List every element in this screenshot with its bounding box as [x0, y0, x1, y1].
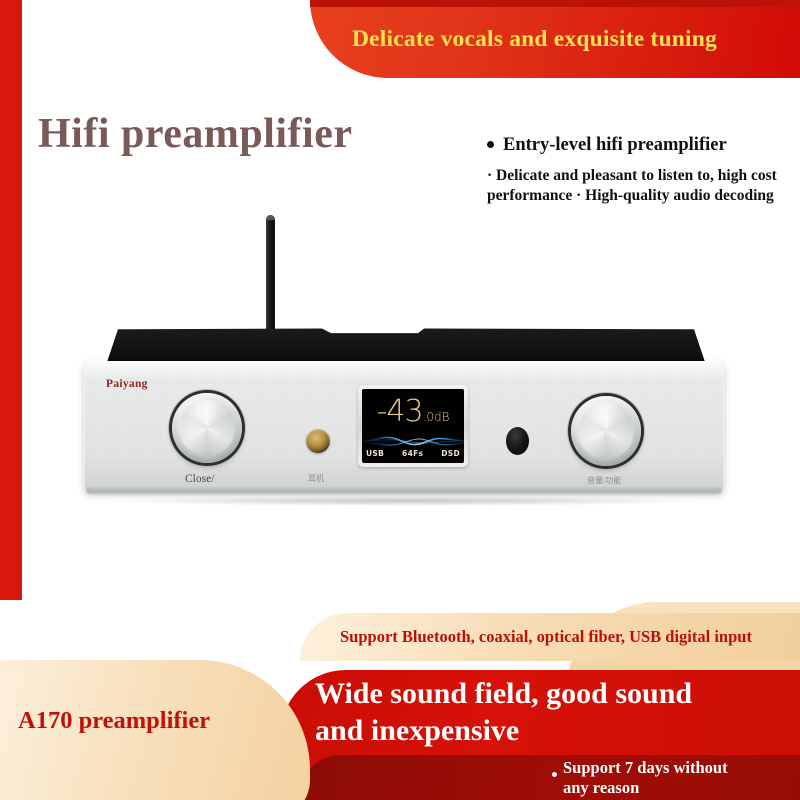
bottom-banner-line-2: and inexpensive: [315, 713, 785, 750]
top-banner-headline: Delicate vocals and exquisite tuning: [352, 26, 792, 53]
bottom-banner-headline: Wide sound field, good sound and inexpen…: [315, 676, 785, 749]
left-knob-input-selector[interactable]: [172, 393, 242, 463]
amplifier-drop-shadow: [114, 496, 698, 506]
warranty-line-2: any reason: [563, 778, 639, 797]
antenna-icon: [266, 215, 275, 333]
warranty-line-1: Support 7 days without: [563, 758, 728, 777]
promo-image-canvas: Delicate vocals and exquisite tuning Hif…: [0, 0, 800, 800]
display-bezel: -43.0dB: [358, 385, 468, 467]
warranty-text-block: Support 7 days without any reason: [563, 758, 728, 798]
feature-bullet-block: Entry-level hifi preamplifier · Delicate…: [487, 135, 787, 206]
amplifier-top-cover: [106, 327, 706, 365]
feature-headline-row: Entry-level hifi preamplifier: [487, 135, 787, 156]
headphone-jack-label: 耳机: [308, 473, 324, 484]
left-knob-label: Close/: [185, 473, 214, 485]
cream-banner-text: Support Bluetooth, coaxial, optical fibe…: [340, 627, 800, 647]
page-title: Hifi preamplifier: [38, 110, 353, 158]
bottom-banner-line-1: Wide sound field, good sound: [315, 676, 785, 713]
top-banner-dark-cap: [310, 0, 800, 7]
volume-unit: .0dB: [423, 410, 450, 424]
ir-remote-sensor: [506, 427, 529, 455]
bullet-dot-icon: [487, 141, 494, 148]
right-knob-volume[interactable]: [571, 396, 641, 466]
right-knob-face: [578, 403, 634, 459]
brand-logo: Paiyang: [106, 378, 148, 390]
oled-display: -43.0dB: [362, 389, 464, 463]
feature-body-text: · Delicate and pleasant to listen to, hi…: [487, 166, 787, 206]
display-input-label: USB: [366, 449, 384, 458]
feature-headline: Entry-level hifi preamplifier: [503, 135, 727, 156]
audio-waveform-icon: [362, 432, 464, 450]
warranty-note: Support 7 days without any reason: [552, 758, 800, 798]
antenna-tip: [266, 215, 275, 220]
amplifier-bottom-lip: [86, 487, 722, 495]
display-format-label: DSD: [441, 449, 460, 458]
product-model-name: A170 preamplifier: [18, 707, 210, 735]
warranty-bullet-icon: [552, 772, 557, 777]
display-samplerate-label: 64Fs: [402, 449, 423, 458]
headphone-jack[interactable]: [306, 429, 330, 453]
volume-value: -43: [377, 394, 423, 429]
amplifier-product-image: Paiyang Close/ 耳机 -43.0dB: [78, 215, 728, 515]
left-red-stripe-decoration: [0, 0, 22, 600]
volume-readout: -43.0dB: [362, 397, 464, 427]
left-knob-face: [179, 400, 235, 456]
display-status-row: USB 64Fs DSD: [366, 449, 460, 458]
amplifier-front-panel: Paiyang Close/ 耳机 -43.0dB: [84, 361, 724, 492]
right-knob-label: 音量/功能: [587, 475, 621, 486]
